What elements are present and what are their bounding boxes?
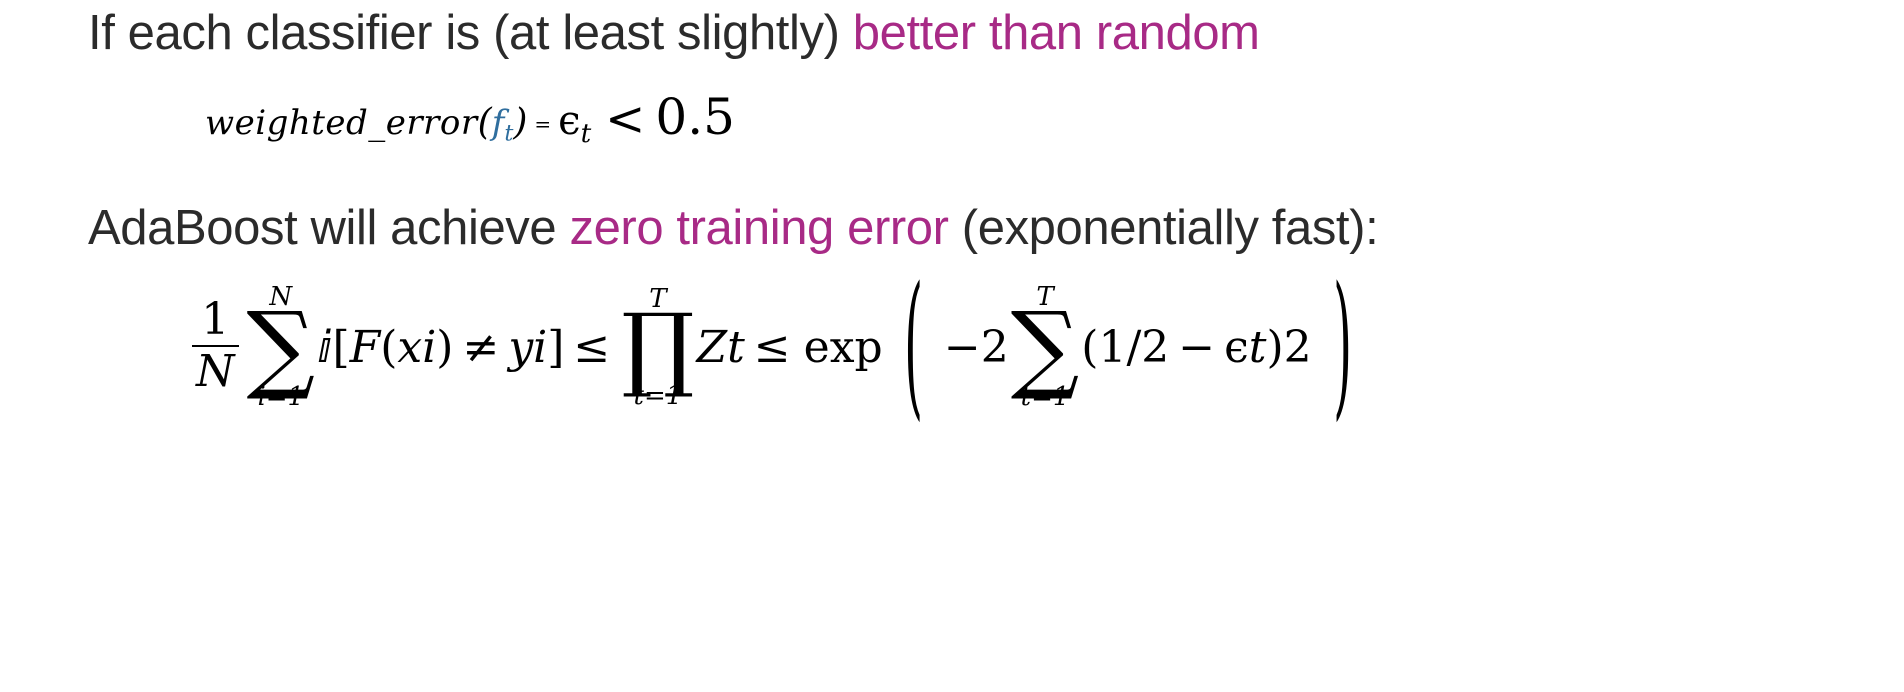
inner-epsilon-subscript: t: [1249, 322, 1267, 373]
fraction-denominator: N: [192, 347, 239, 394]
ensemble-function-symbol: F: [350, 322, 381, 373]
sample-symbol: x: [397, 322, 422, 373]
fraction-numerator: 1: [197, 298, 233, 345]
inner-close-paren: ): [1266, 322, 1283, 373]
weighted-error-formula: weighted_error(ft)=ϵt<0.5: [205, 88, 735, 149]
threshold-value: 0.5: [655, 88, 735, 146]
one-half-value: 1/2: [1098, 322, 1169, 373]
weighted-error-equals-sign: =: [534, 112, 551, 136]
argument-close-paren: ): [436, 322, 453, 373]
sample-subscript: i: [422, 322, 436, 373]
big-close-paren: ): [1333, 256, 1352, 437]
product-lower-limit: t=1: [634, 385, 683, 409]
epsilon-subscript: t: [581, 118, 592, 149]
indicator-close-bracket: ]: [547, 322, 564, 373]
inner-open-paren: (: [1081, 322, 1098, 373]
label-subscript: i: [533, 322, 547, 373]
summation-over-samples: N ∑ i=1: [247, 286, 316, 410]
inner-sum-lower-limit: t=1: [1021, 386, 1070, 410]
weighted-error-argument: ft: [492, 103, 514, 147]
product-over-rounds: T ∏ t=1: [621, 288, 694, 409]
slide-canvas: If each classifier is (at least slightly…: [0, 0, 1904, 692]
pi-product-icon: ∏: [621, 308, 694, 387]
second-less-equal-sign: ≤: [754, 322, 791, 373]
not-equal-sign: ≠: [462, 322, 499, 373]
condition-accent-text: better than random: [853, 6, 1260, 60]
epsilon-symbol: ϵ: [558, 98, 580, 144]
square-exponent: 2: [1284, 322, 1312, 373]
first-less-equal-sign: ≤: [573, 322, 610, 373]
exp-operator-name: exp: [804, 322, 883, 373]
inner-minus-sign: −: [1178, 322, 1215, 373]
inner-epsilon-symbol: ϵ: [1224, 322, 1249, 373]
less-than-sign: <: [605, 91, 645, 147]
summation-over-rounds: T ∑ t=1: [1011, 286, 1080, 410]
sigma-icon: ∑: [247, 306, 316, 389]
indicator-open-bracket: [: [332, 322, 349, 373]
weighted-error-open-paren: (: [478, 102, 492, 143]
epsilon-term: ϵt: [558, 98, 591, 149]
argument-symbol: f: [492, 103, 505, 143]
normalizer-subscript: t: [727, 322, 745, 373]
indicator-symbol: ⅈ: [317, 322, 332, 373]
claim-accent-text: zero training error: [569, 201, 948, 255]
weighted-error-function-name: weighted_error: [205, 103, 478, 143]
sum-lower-limit: i=1: [257, 386, 304, 410]
big-open-paren: (: [904, 256, 923, 437]
argument-open-paren: (: [380, 322, 397, 373]
sigma-icon-inner: ∑: [1011, 306, 1080, 389]
claim-lead-text: AdaBoost will achieve: [88, 201, 569, 255]
label-symbol: y: [508, 322, 533, 373]
claim-text-line: AdaBoost will achieve zero training erro…: [88, 203, 1378, 254]
weighted-error-close-paren: ): [513, 102, 527, 143]
condition-lead-text: If each classifier is (at least slightly…: [88, 6, 853, 60]
condition-text-line: If each classifier is (at least slightly…: [88, 8, 1260, 59]
training-error-bound-formula: 1 N N ∑ i=1 ⅈ[F(xi)≠yi]≤ T ∏ t=1 Zt≤exp(…: [192, 286, 1373, 410]
claim-tail-text: (exponentially fast):: [949, 201, 1379, 255]
normalizer-symbol: Z: [697, 322, 728, 373]
argument-subscript: t: [504, 121, 513, 147]
one-over-n-fraction: 1 N: [192, 298, 239, 395]
minus-two-coefficient: −2: [944, 322, 1009, 373]
